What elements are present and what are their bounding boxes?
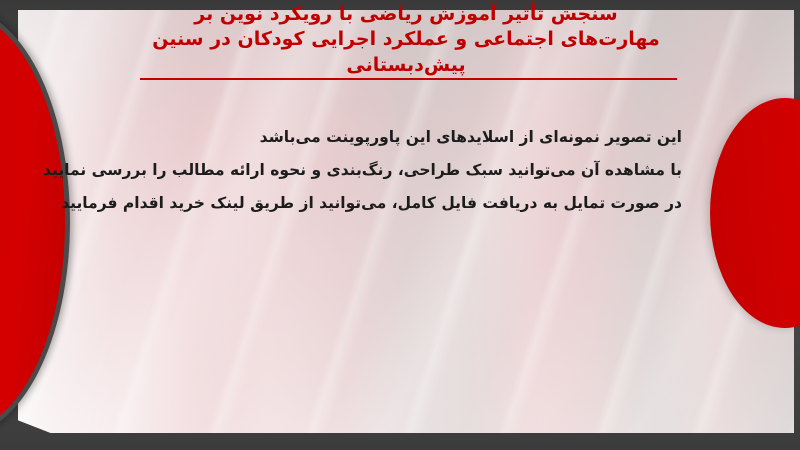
presentation-slide: سنجش تأثیر آموزش ریاضی با رویکرد نوین بر… xyxy=(0,0,800,450)
body-line-2: با مشاهده آن می‌توانید سبک طراحی، رنگ‌بن… xyxy=(122,154,682,187)
body-line-1: این تصویر نمونه‌ای از اسلایدهای این پاور… xyxy=(122,121,682,154)
slide-title: سنجش تأثیر آموزش ریاضی با رویکرد نوین بر… xyxy=(120,2,692,78)
body-line-3: در صورت تمایل به دریافت فایل کامل، می‌تو… xyxy=(122,187,682,220)
title-underline-rule xyxy=(140,78,677,80)
title-line-1: سنجش تأثیر آموزش ریاضی با رویکرد نوین بر xyxy=(120,2,692,27)
title-line-2: مهارت‌های اجتماعی و عملکرد اجرایی کودکان… xyxy=(120,27,692,52)
slide-body-text: این تصویر نمونه‌ای از اسلایدهای این پاور… xyxy=(122,121,682,220)
title-line-3: پیش‌دبستانی xyxy=(120,53,692,78)
